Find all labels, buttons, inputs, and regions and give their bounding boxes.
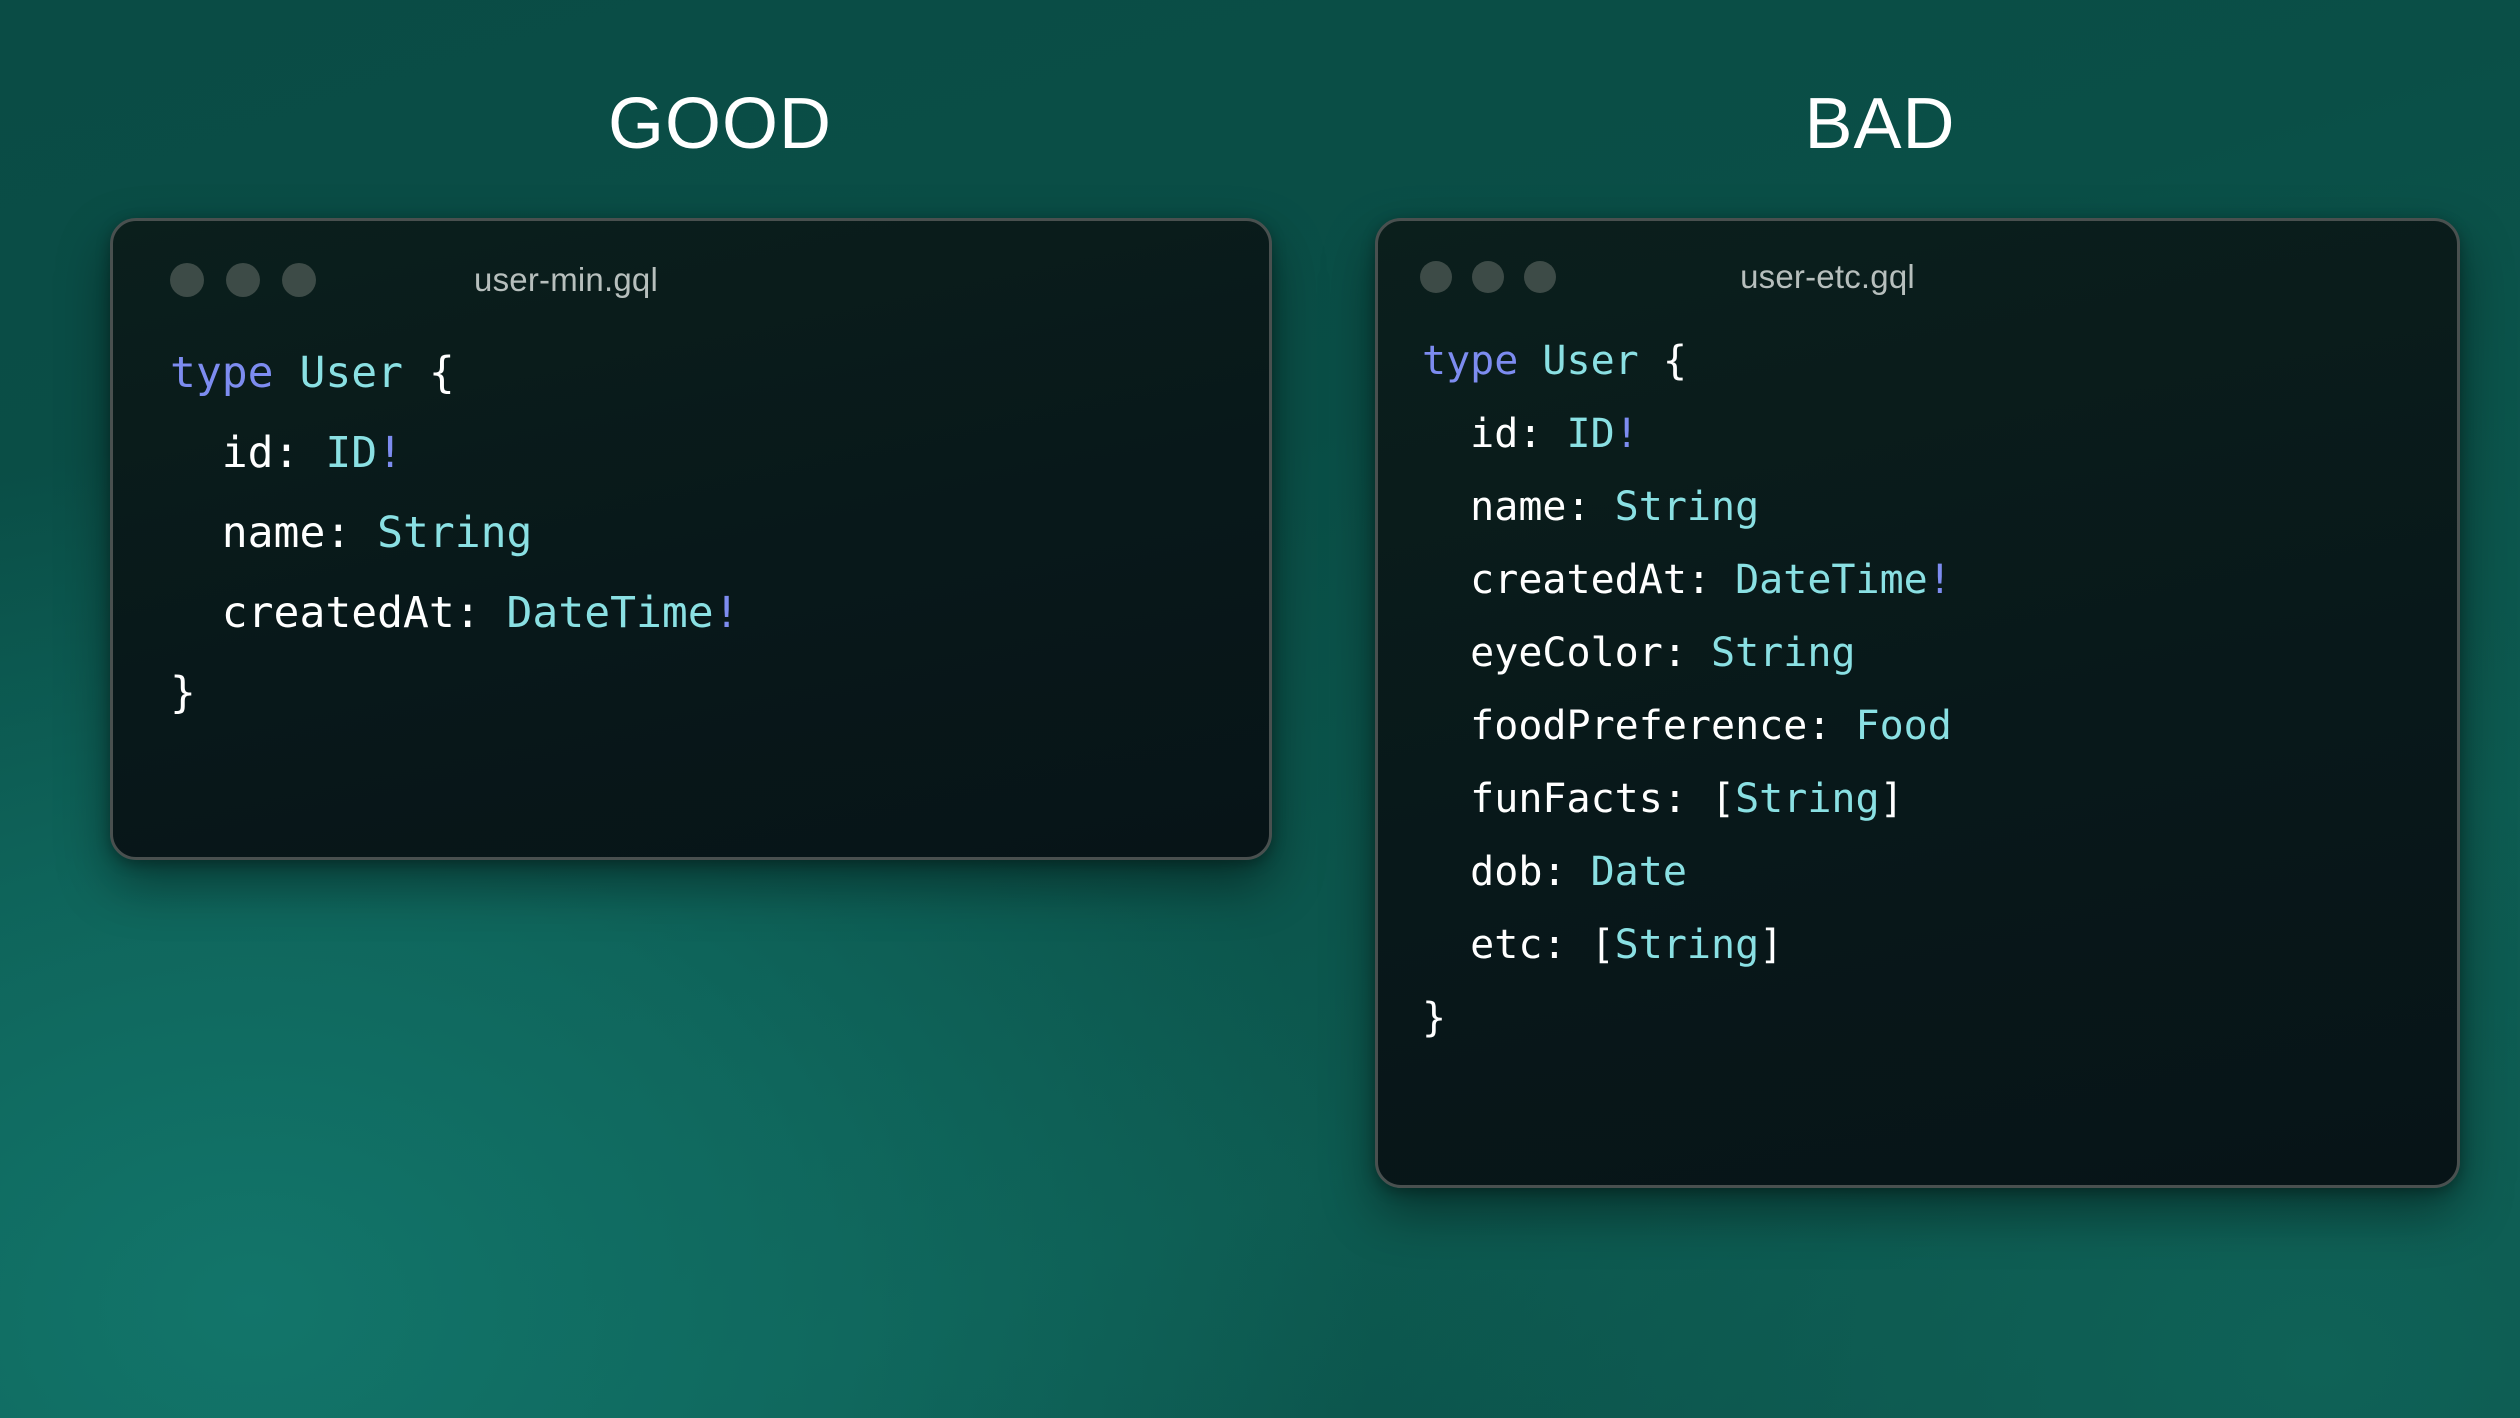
code-token-punct: { xyxy=(403,348,455,398)
code-token-bang: ! xyxy=(1615,411,1639,457)
code-line: createdAt: DateTime! xyxy=(1422,544,2457,617)
code-window-bad: user-etc.gql type User { id: ID! name: S… xyxy=(1375,218,2460,1188)
code-token-punct: } xyxy=(1422,995,1446,1041)
column-heading-bad: BAD xyxy=(1520,88,2240,160)
code-token-tname: Date xyxy=(1591,849,1687,895)
code-line: etc: [String] xyxy=(1422,909,2457,982)
close-dot-icon[interactable] xyxy=(170,263,204,297)
code-token-punct: id: xyxy=(1422,411,1567,457)
code-line: type User { xyxy=(1422,325,2457,398)
code-block-bad: type User { id: ID! name: String created… xyxy=(1378,325,2457,1055)
code-token-bang: ! xyxy=(1928,557,1952,603)
code-line: id: ID! xyxy=(170,413,1269,493)
code-token-punct xyxy=(274,348,300,398)
code-token-tname: ID xyxy=(1567,411,1615,457)
code-token-punct: dob: xyxy=(1422,849,1591,895)
code-token-tname: DateTime xyxy=(507,588,714,638)
code-line: dob: Date xyxy=(1422,836,2457,909)
code-token-tname: DateTime xyxy=(1735,557,1928,603)
code-line: } xyxy=(1422,982,2457,1055)
minimize-dot-icon[interactable] xyxy=(226,263,260,297)
code-token-tname: String xyxy=(1735,776,1880,822)
code-token-tname: String xyxy=(1615,922,1760,968)
code-token-punct: funFacts: [ xyxy=(1422,776,1735,822)
code-token-tname: User xyxy=(299,348,403,398)
window-titlebar-bad: user-etc.gql xyxy=(1378,221,2457,333)
code-token-punct: createdAt: xyxy=(170,588,507,638)
code-token-punct: id: xyxy=(170,428,325,478)
code-token-tname: ID xyxy=(325,428,377,478)
code-token-punct: foodPreference: xyxy=(1422,703,1855,749)
code-token-tname: String xyxy=(377,508,532,558)
code-line: name: String xyxy=(1422,471,2457,544)
code-line: foodPreference: Food xyxy=(1422,690,2457,763)
code-token-tname: User xyxy=(1542,338,1638,384)
code-window-good: user-min.gql type User { id: ID! name: S… xyxy=(110,218,1272,860)
code-line: type User { xyxy=(170,333,1269,413)
code-line: id: ID! xyxy=(1422,398,2457,471)
code-token-punct: { xyxy=(1639,338,1687,384)
code-token-tname: String xyxy=(1615,484,1760,530)
maximize-dot-icon[interactable] xyxy=(1524,261,1556,293)
code-token-punct: name: xyxy=(1422,484,1615,530)
code-token-punct: ] xyxy=(1759,922,1783,968)
code-token-punct: ] xyxy=(1880,776,1904,822)
window-controls-good xyxy=(170,263,316,297)
code-line: name: String xyxy=(170,493,1269,573)
code-token-punct xyxy=(1518,338,1542,384)
code-token-tname: Food xyxy=(1855,703,1951,749)
code-token-punct: } xyxy=(170,668,196,718)
code-token-punct: name: xyxy=(170,508,377,558)
code-block-good: type User { id: ID! name: String created… xyxy=(113,333,1269,733)
code-token-punct: etc: [ xyxy=(1422,922,1615,968)
code-line: eyeColor: String xyxy=(1422,617,2457,690)
code-token-kw: type xyxy=(1422,338,1518,384)
code-token-punct: createdAt: xyxy=(1422,557,1735,603)
code-line: funFacts: [String] xyxy=(1422,763,2457,836)
code-token-kw: type xyxy=(170,348,274,398)
code-line: } xyxy=(170,653,1269,733)
code-token-bang: ! xyxy=(377,428,403,478)
column-heading-good: GOOD xyxy=(360,88,1080,160)
comparison-slide: GOOD user-min.gql type User { id: ID! na… xyxy=(0,0,2520,1418)
code-line: createdAt: DateTime! xyxy=(170,573,1269,653)
minimize-dot-icon[interactable] xyxy=(1472,261,1504,293)
code-token-bang: ! xyxy=(714,588,740,638)
window-controls-bad xyxy=(1420,261,1556,293)
code-token-punct: eyeColor: xyxy=(1422,630,1711,676)
close-dot-icon[interactable] xyxy=(1420,261,1452,293)
window-titlebar-good: user-min.gql xyxy=(113,221,1269,339)
maximize-dot-icon[interactable] xyxy=(282,263,316,297)
code-token-tname: String xyxy=(1711,630,1856,676)
